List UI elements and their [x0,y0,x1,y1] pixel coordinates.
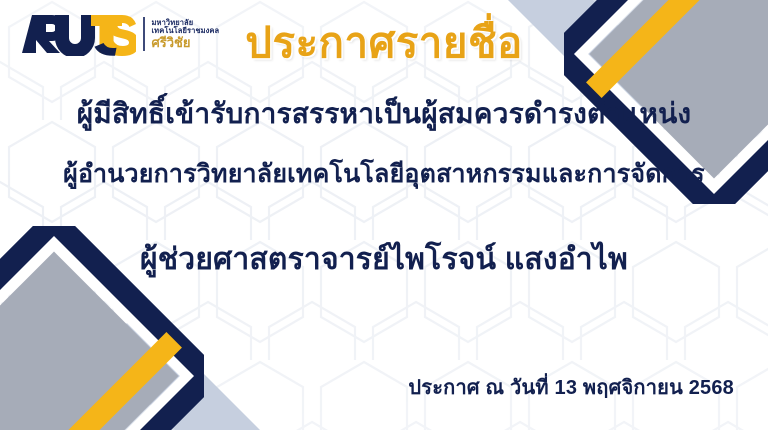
hexagon-pattern-background [0,0,768,430]
ruts-wordmark-icon [18,12,136,56]
poster-content: ประกาศรายชื่อ ผู้มีสิทธิ์เข้ารับการสรรหา… [0,0,768,430]
poster-subtitle-line2: ผู้อำนวยการวิทยาลัยเทคโนโลยีอุตสาหกรรมแล… [0,160,768,189]
logo-thai-line3: ศรีวิชัย [152,36,220,50]
logo-thai-text: มหาวิทยาลัย เทคโนโลยีราชมงคล ศรีวิชัย [152,19,220,49]
corner-decoration-top-right [564,0,768,204]
gold-diagonal-stripe-bottom-left [32,332,182,430]
gold-diagonal-stripe-top-right [586,0,736,98]
candidate-name: ผู้ช่วยศาสตราจารย์ไพโรจน์ แสงอำไพ [0,243,768,278]
corner-decoration-bottom-left [0,226,204,430]
logo-divider [143,17,145,51]
university-logo: มหาวิทยาลัย เทคโนโลยีราชมงคล ศรีวิชัย [18,12,219,56]
poster-subtitle-line1: ผู้มีสิทธิ์เข้ารับการสรรหาเป็นผู้สมควรดำ… [0,98,768,130]
announcement-date: ประกาศ ณ วันที่ 13 พฤศจิกายน 2568 [408,377,734,400]
pale-blue-triangle-top-right [478,0,768,120]
pale-blue-triangle-bottom-left [0,310,290,430]
announcement-poster: มหาวิทยาลัย เทคโนโลยีราชมงคล ศรีวิชัย ปร… [0,0,768,430]
logo-thai-line2: เทคโนโลยีราชมงคล [152,27,220,35]
